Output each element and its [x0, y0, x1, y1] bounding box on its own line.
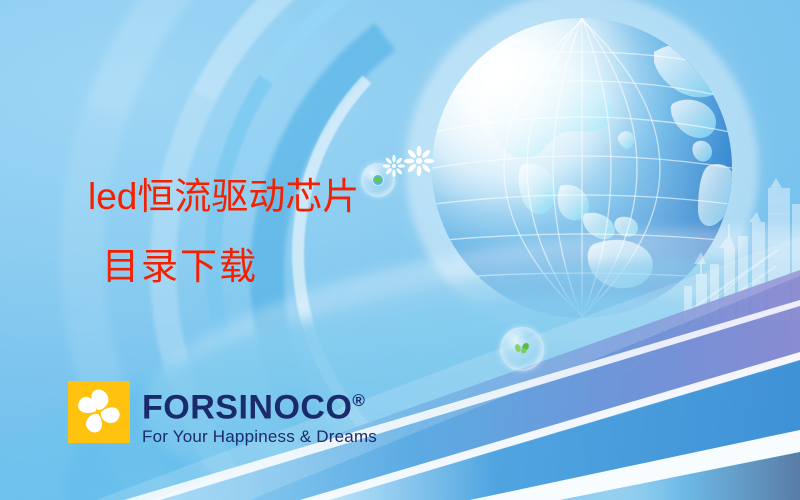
headline-line-2: 目录下载	[88, 232, 508, 302]
bubble-sprout-sprite	[500, 327, 544, 371]
logo-text: FORSINOCO® For Your Happiness & Dreams	[142, 383, 377, 448]
registered-mark: ®	[352, 391, 365, 410]
light-beams-icon	[610, 250, 780, 380]
brand-tagline: For Your Happiness & Dreams	[142, 426, 377, 448]
promo-banner: led恒流驱动芯片 目录下载 FORSINOCO® For Your Happi…	[0, 0, 800, 500]
headline-line-1: led恒流驱动芯片	[88, 162, 508, 232]
brand-logo: FORSINOCO® For Your Happiness & Dreams	[68, 381, 377, 448]
brand-name: FORSINOCO®	[142, 383, 377, 425]
logo-mark	[68, 381, 130, 443]
sprout-icon	[511, 338, 533, 360]
headline: led恒流驱动芯片 目录下载	[88, 162, 508, 302]
brand-name-text: FORSINOCO	[142, 388, 352, 426]
pinwheel-flower-icon	[68, 381, 130, 443]
